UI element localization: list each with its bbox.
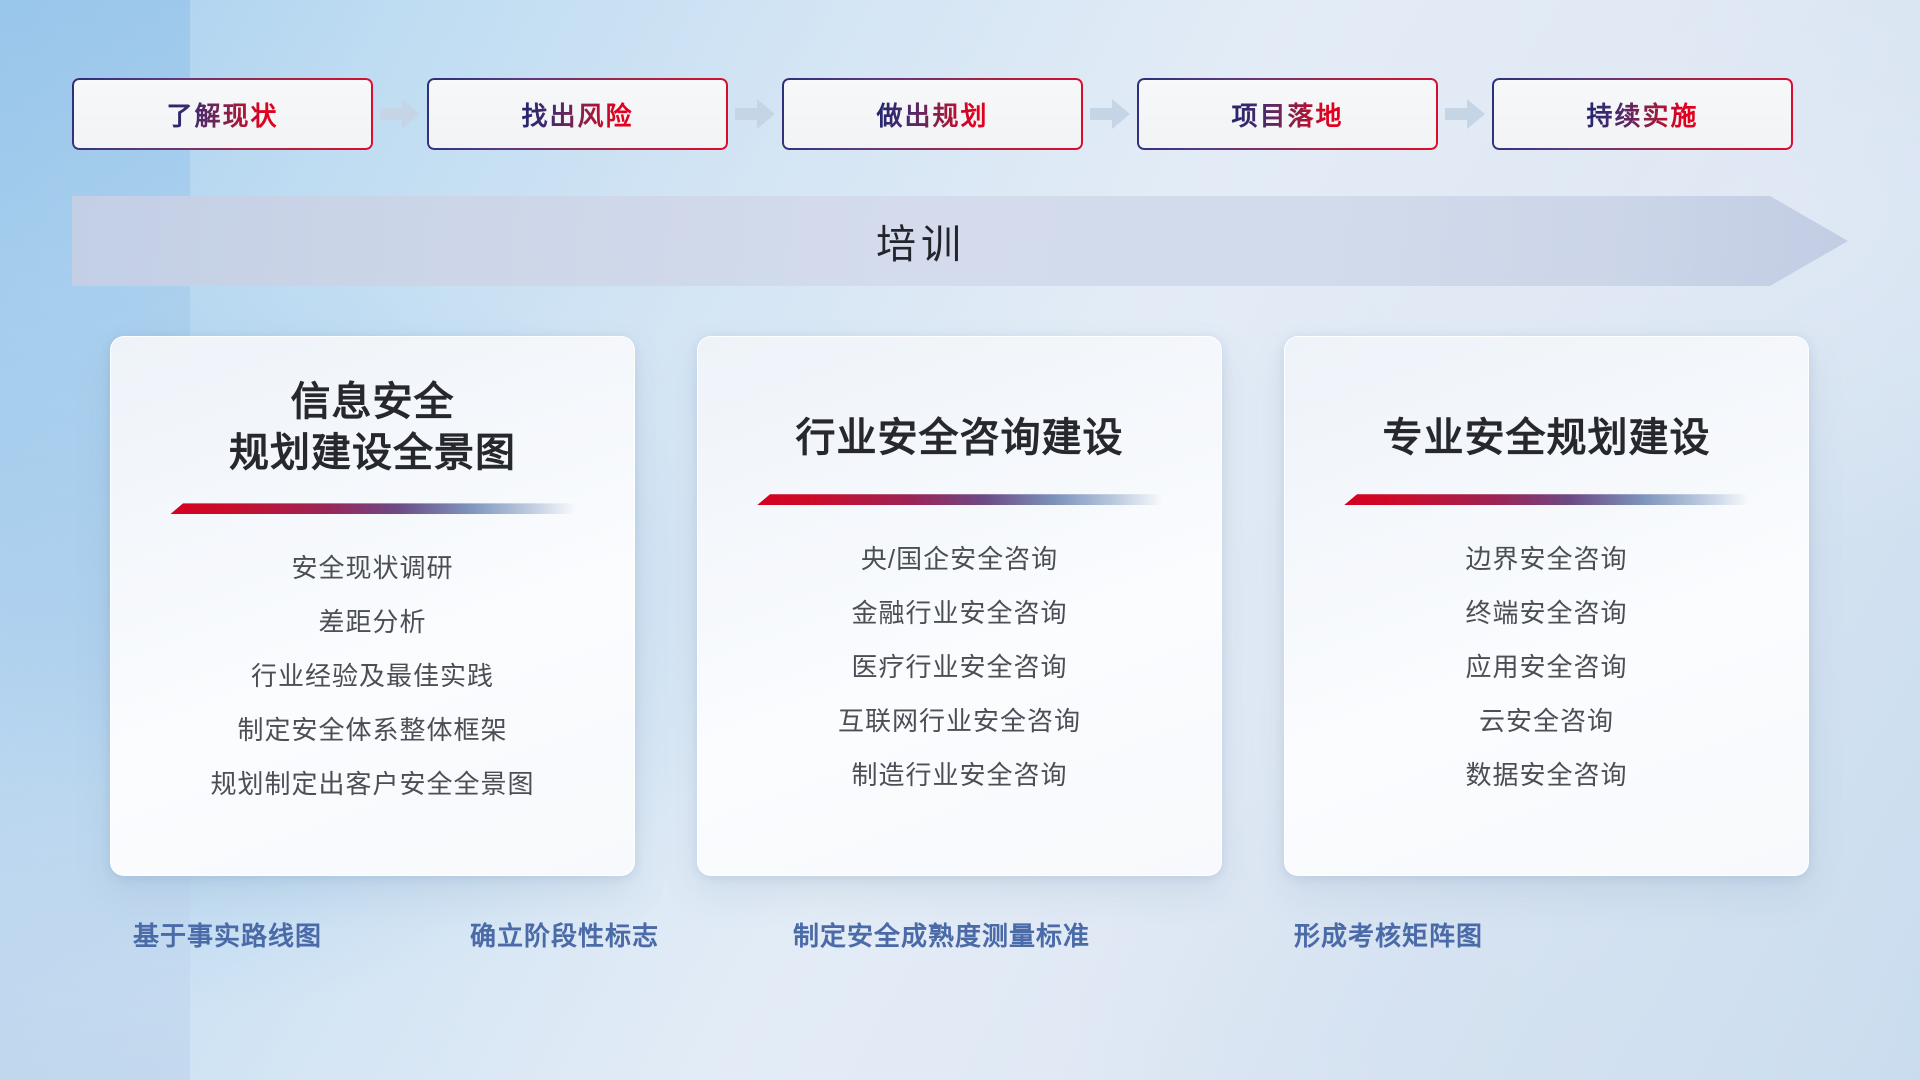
right-arrow-icon xyxy=(728,78,782,150)
info-card-1[interactable]: 信息安全 规划建设全景图安全现状调研差距分析行业经验及最佳实践制定安全体系整体框… xyxy=(110,336,635,876)
list-item: 央/国企安全咨询 xyxy=(861,539,1058,576)
caption-1: 基于事实路线图 xyxy=(133,916,322,953)
process-step-3: 做出规划 xyxy=(782,78,1137,150)
card-title-3: 专业安全规划建设 xyxy=(1383,413,1711,464)
list-item: 制造行业安全咨询 xyxy=(851,755,1067,792)
process-step-4: 项目落地 xyxy=(1137,78,1492,150)
right-arrow-icon xyxy=(1438,78,1492,150)
card-divider-1 xyxy=(170,503,575,514)
step-label-4: 项目落地 xyxy=(1231,96,1343,133)
list-item: 安全现状调研 xyxy=(291,548,453,585)
caption-2: 确立阶段性标志 xyxy=(470,916,659,953)
card-list-2: 央/国企安全咨询金融行业安全咨询医疗行业安全咨询互联网行业安全咨询制造行业安全咨… xyxy=(838,539,1081,792)
list-item: 数据安全咨询 xyxy=(1465,755,1627,792)
step-box-1[interactable]: 了解现状 xyxy=(72,78,373,150)
list-item: 行业经验及最佳实践 xyxy=(251,656,494,693)
step-label-3: 做出规划 xyxy=(876,96,988,133)
card-title-2: 行业安全咨询建设 xyxy=(796,413,1124,464)
process-step-5: 持续实施 xyxy=(1492,78,1793,150)
step-box-2[interactable]: 找出风险 xyxy=(427,78,728,150)
list-item: 金融行业安全咨询 xyxy=(851,593,1067,630)
step-box-3[interactable]: 做出规划 xyxy=(782,78,1083,150)
list-item: 规划制定出客户安全全景图 xyxy=(210,764,534,801)
list-item: 终端安全咨询 xyxy=(1465,593,1627,630)
process-step-row: 了解现状找出风险做出规划项目落地持续实施 xyxy=(72,78,1848,150)
list-item: 差距分析 xyxy=(318,602,426,639)
card-divider-3 xyxy=(1344,494,1749,505)
list-item: 制定安全体系整体框架 xyxy=(237,710,507,747)
step-label-1: 了解现状 xyxy=(166,96,278,133)
info-card-2[interactable]: 行业安全咨询建设央/国企安全咨询金融行业安全咨询医疗行业安全咨询互联网行业安全咨… xyxy=(697,336,1222,876)
slide-canvas: 了解现状找出风险做出规划项目落地持续实施 培训 信息安全 规划建设全景图安全现状… xyxy=(0,0,1920,1080)
step-box-5[interactable]: 持续实施 xyxy=(1492,78,1793,150)
caption-row: 基于事实路线图确立阶段性标志制定安全成熟度测量标准形成考核矩阵图 xyxy=(0,916,1920,966)
caption-4: 形成考核矩阵图 xyxy=(1294,916,1483,953)
step-box-4[interactable]: 项目落地 xyxy=(1137,78,1438,150)
list-item: 医疗行业安全咨询 xyxy=(851,647,1067,684)
card-list-1: 安全现状调研差距分析行业经验及最佳实践制定安全体系整体框架规划制定出客户安全全景… xyxy=(210,548,534,801)
caption-3: 制定安全成熟度测量标准 xyxy=(793,916,1090,953)
step-label-5: 持续实施 xyxy=(1586,96,1698,133)
info-card-3[interactable]: 专业安全规划建设边界安全咨询终端安全咨询应用安全咨询云安全咨询数据安全咨询 xyxy=(1284,336,1809,876)
right-arrow-icon xyxy=(1083,78,1137,150)
list-item: 云安全咨询 xyxy=(1479,701,1614,738)
list-item: 互联网行业安全咨询 xyxy=(838,701,1081,738)
process-step-1: 了解现状 xyxy=(72,78,427,150)
right-arrow-icon xyxy=(373,78,427,150)
step-label-2: 找出风险 xyxy=(521,96,633,133)
card-title-1: 信息安全 规划建设全景图 xyxy=(229,377,516,479)
training-band-label: 培训 xyxy=(72,196,1848,286)
card-list-3: 边界安全咨询终端安全咨询应用安全咨询云安全咨询数据安全咨询 xyxy=(1465,539,1627,792)
list-item: 应用安全咨询 xyxy=(1465,647,1627,684)
process-step-2: 找出风险 xyxy=(427,78,782,150)
card-divider-2 xyxy=(757,494,1162,505)
card-row: 信息安全 规划建设全景图安全现状调研差距分析行业经验及最佳实践制定安全体系整体框… xyxy=(110,336,1810,876)
list-item: 边界安全咨询 xyxy=(1465,539,1627,576)
training-band: 培训 xyxy=(72,196,1848,286)
